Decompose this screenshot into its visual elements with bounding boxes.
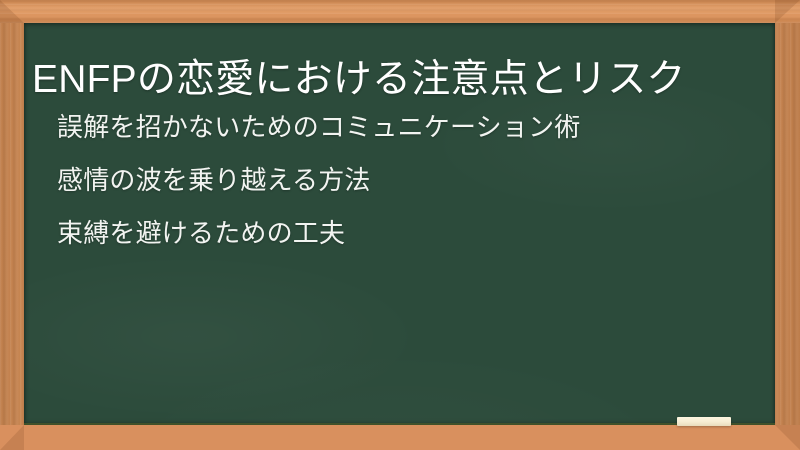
list-item: 束縛を避けるための工夫 (57, 207, 757, 260)
frame-corner-top-right (775, 0, 800, 23)
chalkboard-surface: ENFPの恋愛における注意点とリスク 誤解を招かないためのコミュニケーション術 … (24, 23, 775, 425)
slide-title: ENFPの恋愛における注意点とリスク (32, 58, 767, 103)
frame-corner-bottom-right (775, 425, 800, 450)
chalkboard-slide: ENFPの恋愛における注意点とリスク 誤解を招かないためのコミュニケーション術 … (0, 0, 800, 450)
frame-rail-top (0, 0, 800, 23)
frame-ledge-bottom (0, 425, 800, 450)
bullet-list: 誤解を招かないためのコミュニケーション術 感情の波を乗り越える方法 束縛を避ける… (57, 101, 757, 260)
chalk-stick-icon (677, 417, 731, 426)
frame-corner-bottom-left (0, 425, 24, 450)
frame-corner-top-left (0, 0, 24, 23)
board-bottom-edge (24, 423, 775, 425)
list-item: 誤解を招かないためのコミュニケーション術 (57, 101, 757, 154)
list-item: 感情の波を乗り越える方法 (57, 154, 757, 207)
